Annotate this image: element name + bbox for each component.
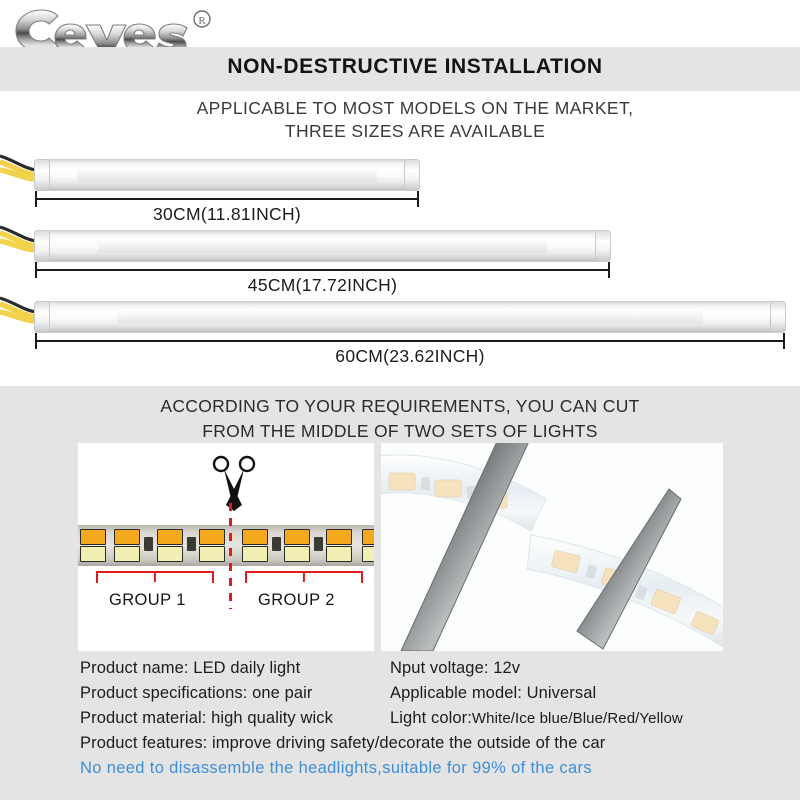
led-chip	[242, 546, 268, 562]
led-strip-45cm	[35, 231, 610, 261]
dimension-bar	[35, 340, 785, 342]
cut-groups-photo: GROUP 1 GROUP 2	[78, 443, 374, 651]
spec-product-specifications: Product specifications: one pair	[80, 684, 313, 703]
strip-diffuser	[118, 310, 703, 324]
bracket-middle	[303, 571, 305, 582]
silicone-strip-illustration	[381, 443, 723, 651]
led-chip	[114, 546, 140, 562]
strip-end-cap-right	[771, 302, 785, 332]
led-chip	[199, 529, 225, 545]
led-chip	[284, 546, 310, 562]
strip-end-cap-right	[405, 160, 419, 190]
dimension-label-60cm: 60CM(23.62INCH)	[35, 346, 785, 367]
product-infographic: R NON-DESTRUCTIVE INSTALLATION APPLICABL…	[0, 0, 800, 800]
spec-product-features: Product features: improve driving safety…	[80, 734, 605, 753]
group2-bracket	[245, 571, 363, 583]
cut-heading-line-1: ACCORDING TO YOUR REQUIREMENTS, YOU CAN …	[0, 394, 800, 419]
led-strip-pcb	[78, 525, 374, 566]
size-row-60cm: 60CM(23.62INCH)	[0, 290, 800, 360]
cutting-demo-photo	[381, 443, 723, 651]
led-chip	[242, 529, 268, 545]
strip-end-cap-right	[596, 231, 610, 261]
led-strip-30cm	[35, 160, 419, 190]
power-wire-icon	[0, 290, 40, 328]
strip-end-cap-left	[35, 302, 49, 332]
spec-light-color-prefix: Light color:	[390, 709, 472, 727]
led-chip	[284, 529, 310, 545]
scissors-icon	[212, 455, 256, 517]
spec-product-name: Product name: LED daily light	[80, 659, 300, 678]
dimension-bar	[35, 269, 610, 271]
size-row-45cm: 45CM(17.72INCH)	[0, 219, 620, 289]
strip-end-cap-left	[35, 231, 49, 261]
cut-heading-line-2: FROM THE MIDDLE OF TWO SETS OF LIGHTS	[0, 419, 800, 444]
power-wire-icon	[0, 148, 40, 186]
group2-label: GROUP 2	[258, 591, 335, 610]
spec-light-color: Light color:White/Ice blue/Blue/Red/Yell…	[390, 709, 683, 728]
cut-section: ACCORDING TO YOUR REQUIREMENTS, YOU CAN …	[0, 386, 800, 800]
spec-product-material: Product material: high quality wick	[80, 709, 333, 728]
page-title: NON-DESTRUCTIVE INSTALLATION	[0, 55, 800, 79]
led-chip	[80, 546, 106, 562]
led-chip	[362, 529, 374, 545]
strip-diffuser	[98, 239, 547, 253]
spec-applicable-model: Applicable model: Universal	[390, 684, 596, 703]
spec-highlight-note: No need to disassemble the headlights,su…	[80, 759, 592, 778]
spec-input-voltage: Nput voltage: 12v	[390, 659, 520, 678]
trademark-symbol: R	[198, 15, 206, 27]
subtitle-line-2: THREE SIZES ARE AVAILABLE	[30, 120, 800, 143]
led-chip	[157, 546, 183, 562]
bracket-end	[245, 571, 247, 583]
cut-section-heading: ACCORDING TO YOUR REQUIREMENTS, YOU CAN …	[0, 394, 800, 444]
dimension-bar	[35, 198, 419, 200]
spec-light-color-values: White/Ice blue/Blue/Red/Yellow	[472, 710, 683, 727]
resistor	[314, 537, 323, 551]
bracket-end	[212, 571, 214, 583]
power-wire-icon	[0, 219, 40, 257]
resistor	[187, 537, 196, 551]
bracket-end	[361, 571, 363, 583]
led-chip	[80, 529, 106, 545]
resistor	[144, 537, 153, 551]
page-subtitle: APPLICABLE TO MOST MODELS ON THE MARKET,…	[0, 97, 800, 143]
subtitle-line-1: APPLICABLE TO MOST MODELS ON THE MARKET,	[30, 97, 800, 120]
group1-label: GROUP 1	[109, 591, 186, 610]
led-chip	[114, 529, 140, 545]
led-chip	[326, 546, 352, 562]
led-chip	[362, 546, 374, 562]
bracket-middle	[154, 571, 156, 582]
led-chip	[326, 529, 352, 545]
strip-end-cap-left	[35, 160, 49, 190]
group1-bracket	[96, 571, 214, 583]
cut-line	[229, 503, 232, 609]
top-section: R NON-DESTRUCTIVE INSTALLATION APPLICABL…	[0, 0, 800, 386]
resistor	[272, 537, 281, 551]
bracket-end	[96, 571, 98, 583]
size-row-30cm: 30CM(11.81INCH)	[0, 148, 430, 218]
led-chip	[157, 529, 183, 545]
led-strip-60cm	[35, 302, 785, 332]
strip-diffuser	[77, 168, 377, 182]
led-chip	[199, 546, 225, 562]
